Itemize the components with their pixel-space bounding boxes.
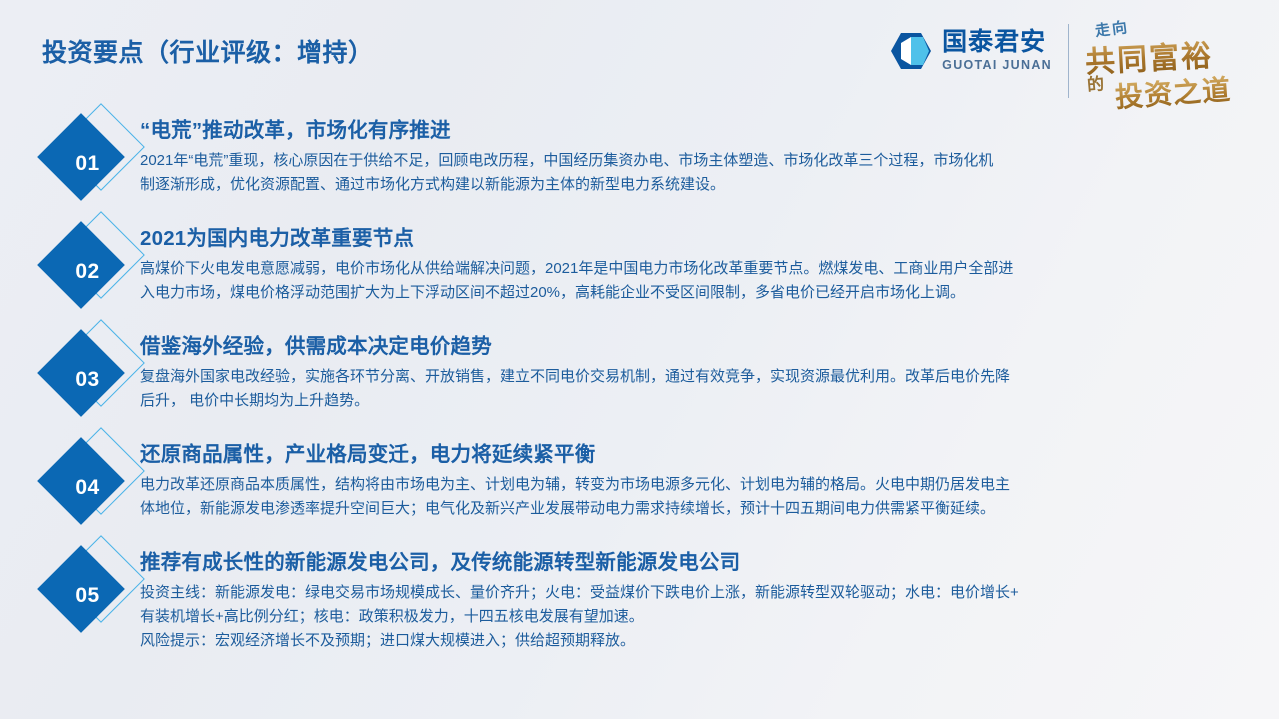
- point-text: 投资主线：新能源发电：绿电交易市场规模成长、量价齐升；火电：受益煤价下跌电价上涨…: [140, 581, 1255, 654]
- point-text-line: 后升， 电价中长期均为上升趋势。: [140, 389, 1255, 413]
- point-number: 04: [50, 450, 112, 512]
- brand-logo: 国泰君安 GUOTAI JUNAN: [889, 22, 1052, 72]
- point-number: 05: [50, 558, 112, 620]
- list-item: 04 还原商品属性，产业格局变迁，电力将延续紧平衡 电力改革还原商品本质属性，结…: [0, 434, 1279, 530]
- list-item: 02 2021为国内电力改革重要节点 高煤价下火电发电意愿减弱，电价市场化从供给…: [0, 218, 1279, 314]
- brand-slogan: 走向 共同富裕 的 投资之道: [1085, 18, 1261, 118]
- brand-wordmark: 国泰君安 GUOTAI JUNAN: [942, 30, 1052, 72]
- brand-block: 国泰君安 GUOTAI JUNAN 走向 共同富裕 的 投资之道: [889, 22, 1261, 100]
- point-badge: 01: [36, 110, 140, 206]
- investment-points-list: 01 “电荒”推动改革，市场化有序推进 2021年“电荒”重现，核心原因在于供给…: [0, 104, 1279, 654]
- slogan-line-3: 的: [1086, 69, 1105, 95]
- point-badge: 02: [36, 218, 140, 314]
- point-text-line: 投资主线：新能源发电：绿电交易市场规模成长、量价齐升；火电：受益煤价下跌电价上涨…: [140, 581, 1255, 605]
- slide-header: 投资要点（行业评级：增持） 国泰君安 GUOTAI JUNAN 走向: [0, 0, 1279, 104]
- list-item: 01 “电荒”推动改革，市场化有序推进 2021年“电荒”重现，核心原因在于供给…: [0, 110, 1279, 206]
- list-item: 05 推荐有成长性的新能源发电公司，及传统能源转型新能源发电公司 投资主线：新能…: [0, 542, 1279, 654]
- point-text-line: 制逐渐形成，优化资源配置、通过市场化方式构建以新能源为主体的新型电力系统建设。: [140, 173, 1255, 197]
- point-text-line: 电力改革还原商品本质属性，结构将由市场电为主、计划电为辅，转变为市场电源多元化、…: [140, 473, 1255, 497]
- point-heading: 2021为国内电力改革重要节点: [140, 226, 1255, 252]
- point-body: 还原商品属性，产业格局变迁，电力将延续紧平衡 电力改革还原商品本质属性，结构将由…: [140, 434, 1279, 521]
- page-title: 投资要点（行业评级：增持）: [42, 33, 374, 69]
- brand-divider: [1068, 24, 1069, 98]
- point-heading: 借鉴海外经验，供需成本决定电价趋势: [140, 334, 1255, 360]
- point-text: 高煤价下火电发电意愿减弱，电价市场化从供给端解决问题，2021年是中国电力市场化…: [140, 257, 1255, 306]
- point-body: 推荐有成长性的新能源发电公司，及传统能源转型新能源发电公司 投资主线：新能源发电…: [140, 542, 1279, 654]
- point-text: 电力改革还原商品本质属性，结构将由市场电为主、计划电为辅，转变为市场电源多元化、…: [140, 473, 1255, 522]
- point-heading: “电荒”推动改革，市场化有序推进: [140, 118, 1255, 144]
- point-heading: 推荐有成长性的新能源发电公司，及传统能源转型新能源发电公司: [140, 550, 1255, 576]
- point-body: 2021为国内电力改革重要节点 高煤价下火电发电意愿减弱，电价市场化从供给端解决…: [140, 218, 1279, 305]
- point-text-line: 有装机增长+高比例分红；核电：政策积极发力，十四五核电发展有望加速。: [140, 605, 1255, 629]
- point-badge: 04: [36, 434, 140, 530]
- point-text-line: 高煤价下火电发电意愿减弱，电价市场化从供给端解决问题，2021年是中国电力市场化…: [140, 257, 1255, 281]
- point-number: 02: [50, 234, 112, 296]
- point-text-line: 体地位，新能源发电渗透率提升空间巨大；电气化及新兴产业发展带动电力需求持续增长，…: [140, 497, 1255, 521]
- point-body: “电荒”推动改革，市场化有序推进 2021年“电荒”重现，核心原因在于供给不足，…: [140, 110, 1279, 197]
- point-badge: 03: [36, 326, 140, 422]
- point-text-line: 2021年“电荒”重现，核心原因在于供给不足，回顾电改历程，中国经历集资办电、市…: [140, 149, 1255, 173]
- point-heading: 还原商品属性，产业格局变迁，电力将延续紧平衡: [140, 442, 1255, 468]
- brand-name-en: GUOTAI JUNAN: [942, 59, 1052, 72]
- point-text: 2021年“电荒”重现，核心原因在于供给不足，回顾电改历程，中国经历集资办电、市…: [140, 149, 1255, 198]
- point-text-line: 风险提示：宏观经济增长不及预期；进口煤大规模进入；供给超预期释放。: [140, 629, 1255, 653]
- list-item: 03 借鉴海外经验，供需成本决定电价趋势 复盘海外国家电改经验，实施各环节分离、…: [0, 326, 1279, 422]
- point-badge: 05: [36, 542, 140, 638]
- point-text-line: 复盘海外国家电改经验，实施各环节分离、开放销售，建立不同电价交易机制，通过有效竞…: [140, 365, 1255, 389]
- guotai-junan-logo-icon: [889, 31, 933, 71]
- point-text: 复盘海外国家电改经验，实施各环节分离、开放销售，建立不同电价交易机制，通过有效竞…: [140, 365, 1255, 414]
- point-body: 借鉴海外经验，供需成本决定电价趋势 复盘海外国家电改经验，实施各环节分离、开放销…: [140, 326, 1279, 413]
- point-number: 01: [50, 126, 112, 188]
- brand-name-cn: 国泰君安: [942, 30, 1052, 55]
- slide-root: 投资要点（行业评级：增持） 国泰君安 GUOTAI JUNAN 走向: [0, 0, 1279, 719]
- point-number: 03: [50, 342, 112, 404]
- point-text-line: 入电力市场，煤电价格浮动范围扩大为上下浮动区间不超过20%，高耗能企业不受区间限…: [140, 281, 1255, 305]
